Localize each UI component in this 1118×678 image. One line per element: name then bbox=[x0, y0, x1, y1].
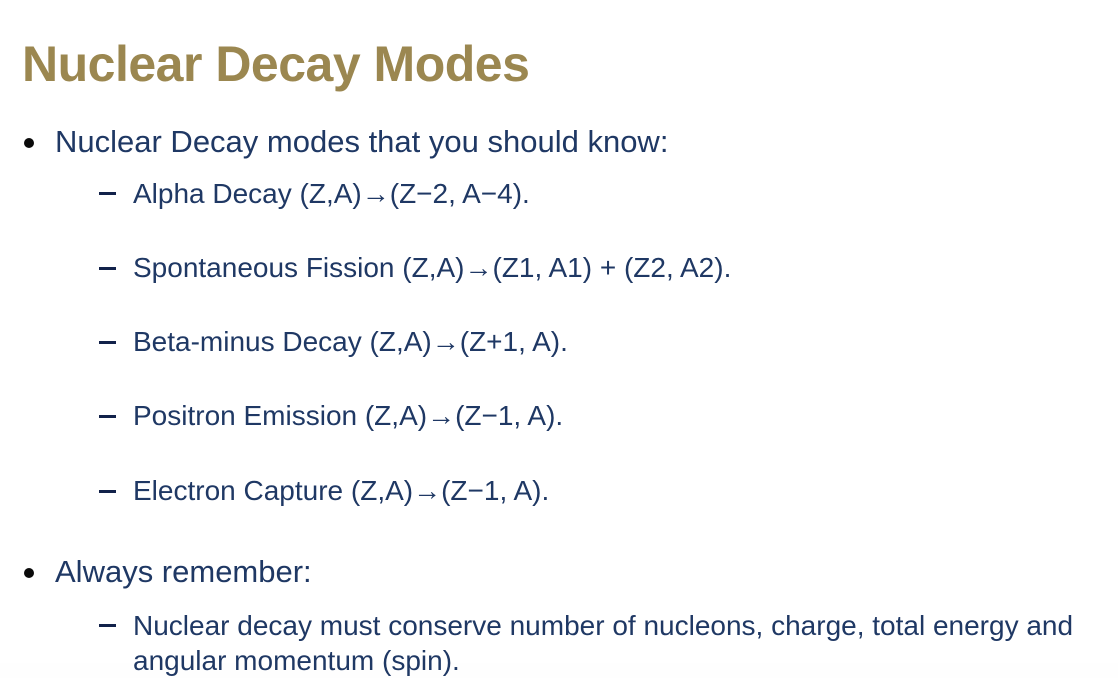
sub-bullet-label: Spontaneous Fission (Z,A)→(Z1, A1) + (Z2… bbox=[133, 252, 731, 283]
sub-bullet-label: Positron Emission (Z,A)→(Z−1, A). bbox=[133, 400, 563, 431]
bullet-label: Nuclear Decay modes that you should know… bbox=[55, 124, 668, 159]
sub-bullet-label: Beta-minus Decay (Z,A)→(Z+1, A). bbox=[133, 326, 568, 357]
bullet-item-heading-2: Always remember: bbox=[0, 552, 1118, 592]
page-title: Nuclear Decay Modes bbox=[22, 36, 529, 92]
slide: Nuclear Decay Modes Nuclear Decay modes … bbox=[0, 0, 1118, 663]
bullet-item-heading-1: Nuclear Decay modes that you should know… bbox=[0, 122, 1118, 162]
dash-icon bbox=[99, 624, 116, 627]
dash-icon bbox=[99, 415, 116, 418]
sub-bullet-label: Electron Capture (Z,A)→(Z−1, A). bbox=[133, 475, 549, 506]
bullet-dot-icon bbox=[24, 568, 34, 578]
dash-icon bbox=[99, 490, 116, 493]
sub-bullet-label: Alpha Decay (Z,A)→(Z−2, A−4). bbox=[133, 178, 530, 209]
dash-icon bbox=[99, 267, 116, 270]
slide-body: Nuclear Decay modes that you should know… bbox=[0, 122, 1118, 678]
bullet-dot-icon bbox=[24, 138, 34, 148]
sub-bullet-label: Nuclear decay must conserve number of nu… bbox=[133, 608, 1118, 678]
dash-icon bbox=[99, 192, 116, 195]
sub-bullet-item: Nuclear decay must conserve number of nu… bbox=[0, 608, 1118, 678]
bullet-group-1: Nuclear Decay modes that you should know… bbox=[0, 122, 1118, 508]
sub-bullet-item: Positron Emission (Z,A)→(Z−1, A). bbox=[0, 398, 1118, 433]
sub-bullet-group-2: Nuclear decay must conserve number of nu… bbox=[0, 608, 1118, 678]
dash-icon bbox=[99, 341, 116, 344]
bullet-label: Always remember: bbox=[55, 554, 312, 589]
sub-bullet-item: Alpha Decay (Z,A)→(Z−2, A−4). bbox=[0, 176, 1118, 211]
sub-bullet-item: Beta-minus Decay (Z,A)→(Z+1, A). bbox=[0, 324, 1118, 359]
sub-bullet-group-1: Alpha Decay (Z,A)→(Z−2, A−4). Spontaneou… bbox=[0, 176, 1118, 508]
sub-bullet-item: Electron Capture (Z,A)→(Z−1, A). bbox=[0, 473, 1118, 508]
sub-bullet-item: Spontaneous Fission (Z,A)→(Z1, A1) + (Z2… bbox=[0, 250, 1118, 285]
bullet-group-2: Always remember: Nuclear decay must cons… bbox=[0, 552, 1118, 678]
